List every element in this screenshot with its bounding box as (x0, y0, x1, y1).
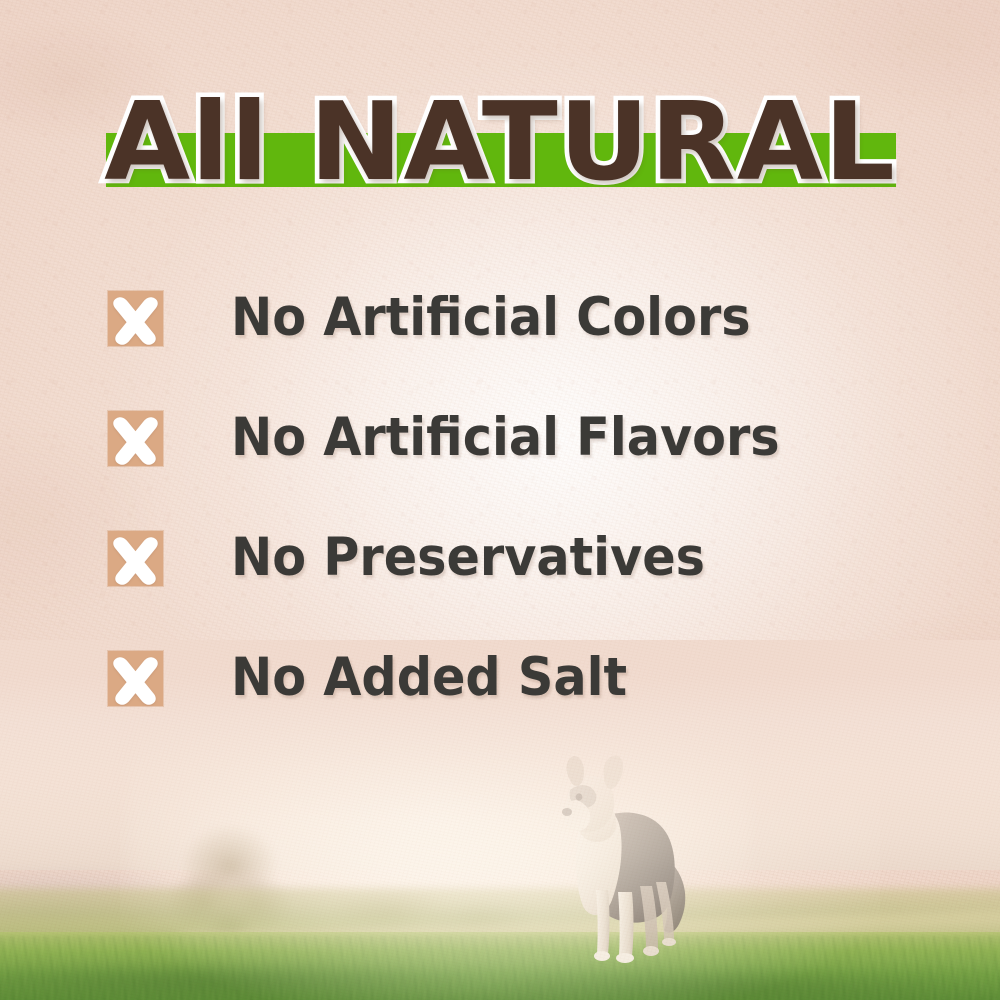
x-mark-icon (108, 531, 163, 586)
x-mark-icon (108, 651, 163, 706)
title-banner: All NATURAL (0, 84, 1000, 204)
page-title: All NATURAL (0, 84, 1000, 202)
claims-list: No Artificial Colors No Artificial Flavo… (108, 258, 938, 738)
list-item-label: No Preservatives (231, 530, 705, 586)
x-mark-icon (108, 411, 163, 466)
list-item-label: No Added Salt (231, 650, 627, 706)
list-item-label: No Artificial Flavors (231, 410, 780, 466)
list-item: No Added Salt (108, 618, 938, 738)
list-item: No Artificial Flavors (108, 378, 938, 498)
list-item-label: No Artificial Colors (231, 290, 751, 346)
x-mark-icon (108, 291, 163, 346)
list-item: No Preservatives (108, 498, 938, 618)
product-feature-poster: All NATURAL No Artificial Colors No Arti… (0, 0, 1000, 1000)
list-item: No Artificial Colors (108, 258, 938, 378)
